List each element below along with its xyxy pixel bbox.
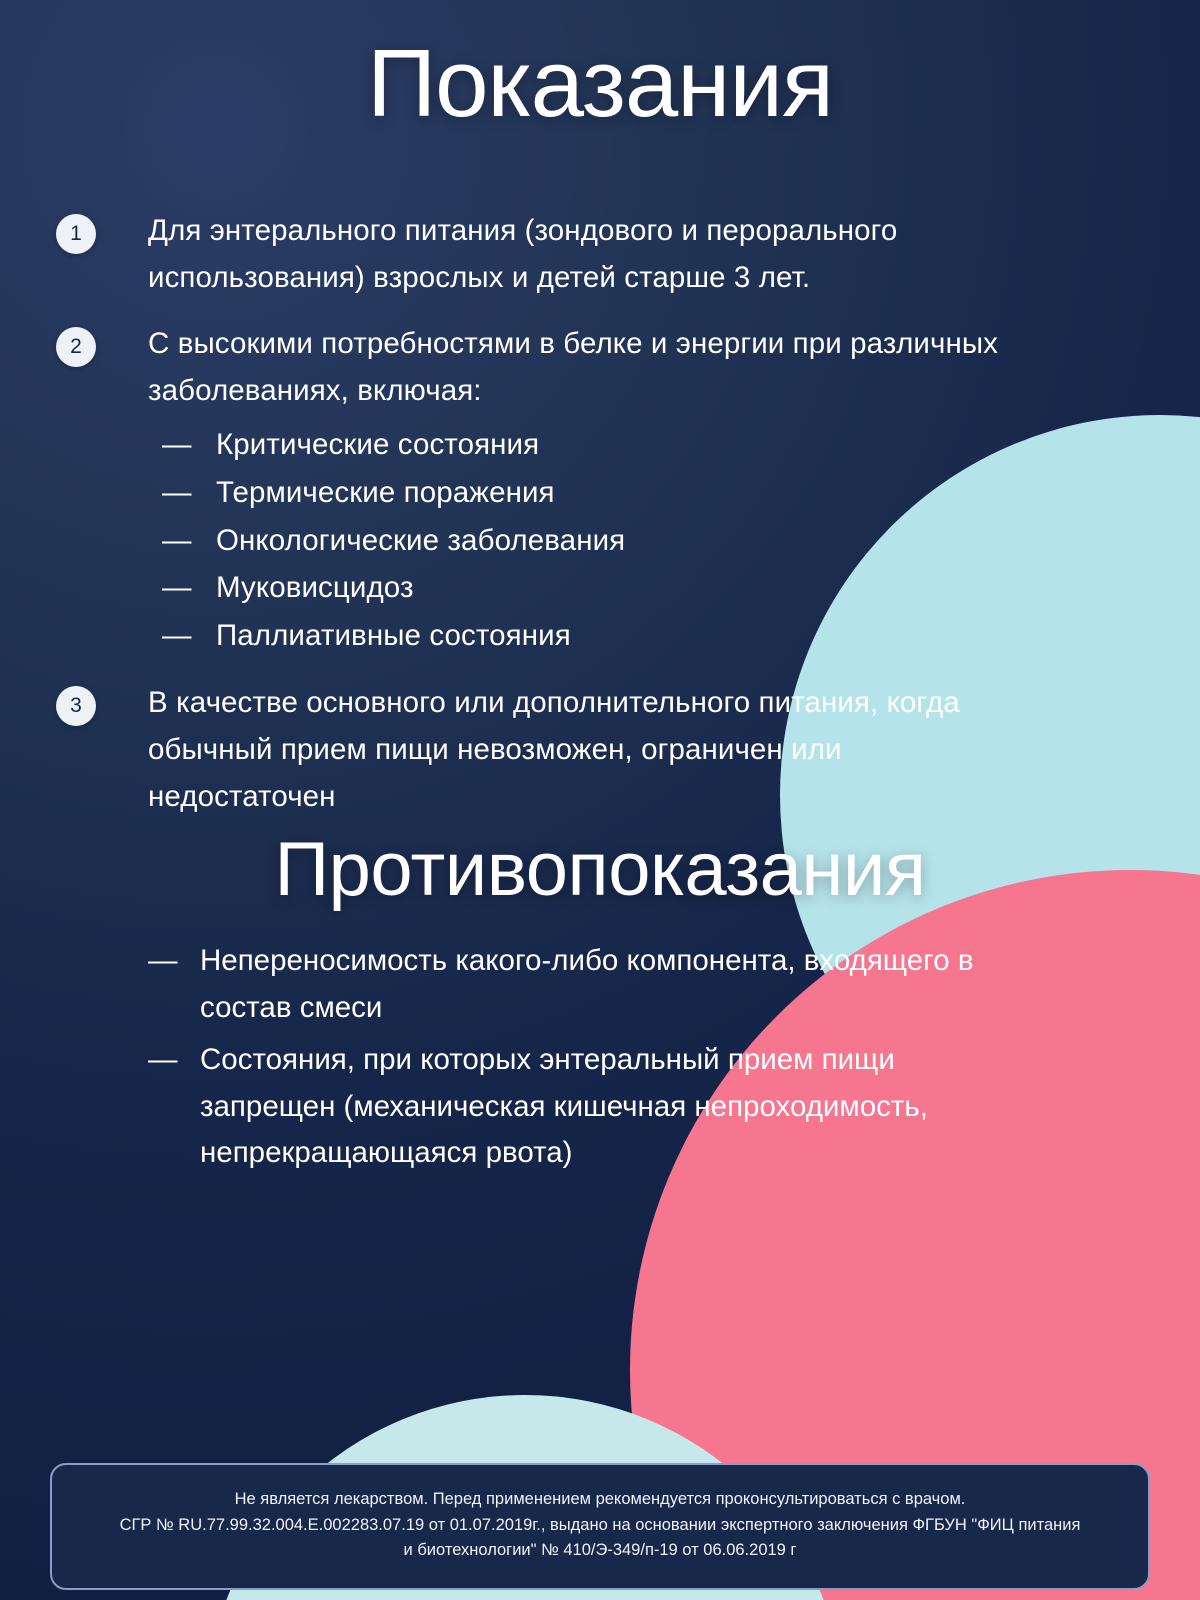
page-title-contraindications: Противопоказания bbox=[0, 832, 1200, 908]
number-badge-1: 1 bbox=[56, 214, 96, 254]
indication-block-2: С высокими потребностями в белке и энерг… bbox=[148, 321, 1028, 660]
list-item: — Критические состояния bbox=[162, 422, 1028, 469]
disclaimer-box: Не является лекарством. Перед применение… bbox=[50, 1463, 1150, 1590]
indication-text-3: В качестве основного или дополнительного… bbox=[148, 680, 1028, 820]
list-item: — Непереносимость какого-либо компонента… bbox=[148, 938, 1028, 1031]
indication-text-1: Для энтерального питания (зондового и пе… bbox=[148, 208, 1028, 301]
list-item: 1 Для энтерального питания (зондового и … bbox=[56, 208, 1056, 301]
dash-bullet-icon: — bbox=[148, 1037, 200, 1084]
slide-content: Показания 1 Для энтерального питания (зо… bbox=[0, 0, 1200, 1600]
sub-item-label: Онкологические заболевания bbox=[216, 518, 1028, 565]
list-item: — Онкологические заболевания bbox=[162, 518, 1028, 565]
dash-bullet-icon: — bbox=[162, 518, 216, 565]
dash-bullet-icon: — bbox=[162, 613, 216, 660]
page-title-indications: Показания bbox=[0, 36, 1200, 132]
slide-root: Показания 1 Для энтерального питания (зо… bbox=[0, 0, 1200, 1600]
number-badge-3: 3 bbox=[56, 686, 96, 726]
disclaimer-line-3: и биотехнологии" № 410/Э-349/п-19 от 06.… bbox=[86, 1538, 1114, 1564]
list-item: — Состояния, при которых энтеральный при… bbox=[148, 1037, 1028, 1177]
sub-item-label: Критические состояния bbox=[216, 422, 1028, 469]
dash-bullet-icon: — bbox=[162, 565, 216, 612]
sub-item-label: Паллиативные состояния bbox=[216, 613, 1028, 660]
list-item: — Паллиативные состояния bbox=[162, 613, 1028, 660]
number-badge-2: 2 bbox=[56, 327, 96, 367]
list-item: — Термические поражения bbox=[162, 470, 1028, 517]
indications-list: 1 Для энтерального питания (зондового и … bbox=[56, 208, 1056, 840]
list-item: 3 В качестве основного или дополнительно… bbox=[56, 680, 1056, 820]
disclaimer-line-2: СГР № RU.77.99.32.004.Е.002283.07.19 от … bbox=[86, 1513, 1114, 1539]
dash-bullet-icon: — bbox=[162, 470, 216, 517]
indication-text-2: С высокими потребностями в белке и энерг… bbox=[148, 327, 998, 407]
contraindication-label: Состояния, при которых энтеральный прием… bbox=[200, 1037, 1028, 1177]
sub-item-label: Термические поражения bbox=[216, 470, 1028, 517]
list-item: — Муковисцидоз bbox=[162, 565, 1028, 612]
contraindication-label: Непереносимость какого-либо компонента, … bbox=[200, 938, 1028, 1031]
disclaimer-line-1: Не является лекарством. Перед применение… bbox=[86, 1487, 1114, 1513]
dash-bullet-icon: — bbox=[162, 422, 216, 469]
indication-sub-list: — Критические состояния — Термические по… bbox=[162, 422, 1028, 659]
list-item: 2 С высокими потребностями в белке и эне… bbox=[56, 321, 1056, 660]
dash-bullet-icon: — bbox=[148, 938, 200, 985]
contraindications-list: — Непереносимость какого-либо компонента… bbox=[148, 938, 1028, 1183]
sub-item-label: Муковисцидоз bbox=[216, 565, 1028, 612]
